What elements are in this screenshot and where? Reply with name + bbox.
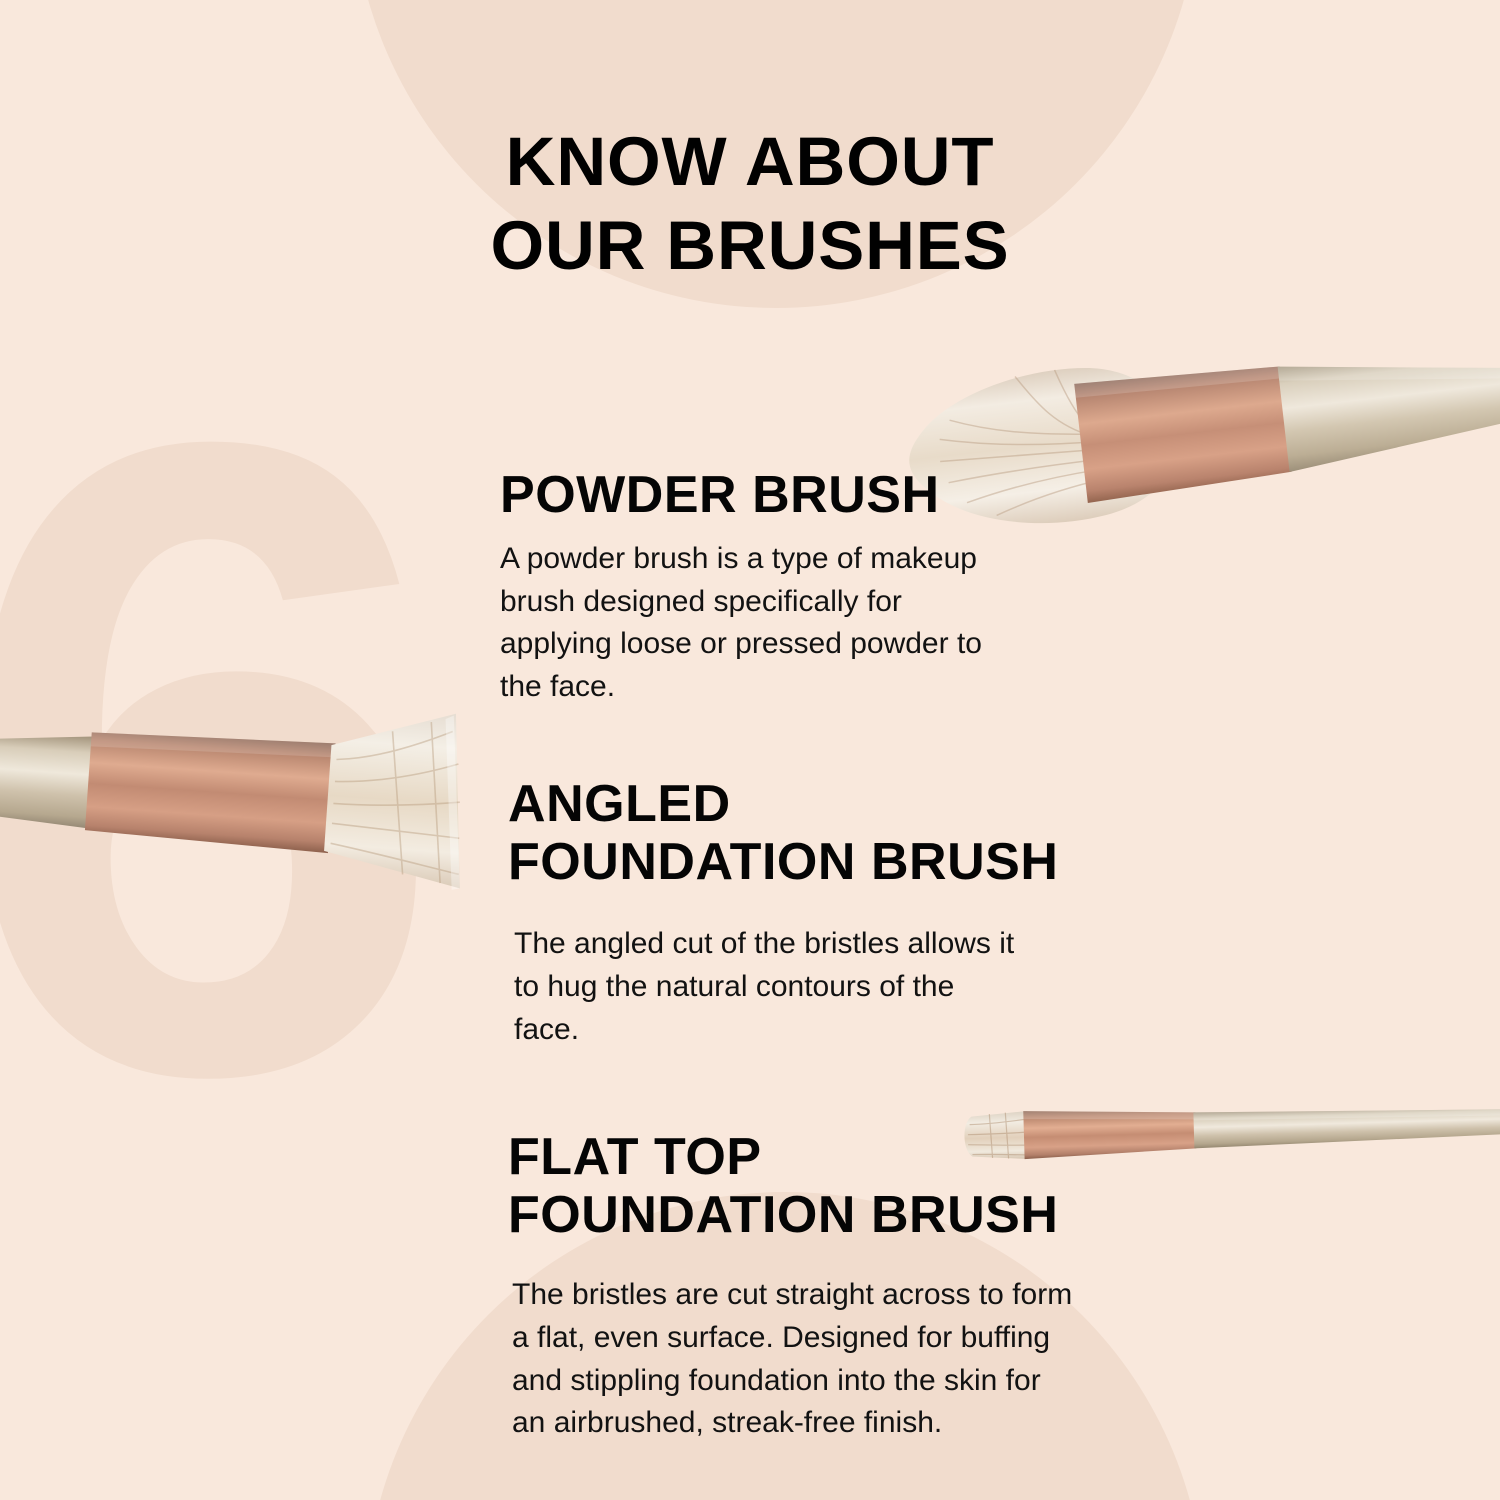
section-body-angled-foundation-brush: The angled cut of the bristles allows it… — [514, 923, 1168, 1051]
poster-canvas: 6 KNOW ABOUT OUR BRUSHES — [0, 0, 1500, 1500]
section-title-angled-foundation-brush: ANGLED FOUNDATION BRUSH — [508, 775, 1168, 891]
section-body-flat-top-foundation-brush: The bristles are cut straight across to … — [512, 1274, 1128, 1444]
section-title-powder-brush: POWDER BRUSH — [500, 466, 1020, 524]
angled-foundation-brush-image — [0, 672, 506, 928]
section-title-flat-top-foundation-brush: FLAT TOP FOUNDATION BRUSH — [508, 1128, 1128, 1244]
section-angled-foundation-brush: ANGLED FOUNDATION BRUSH The angled cut o… — [508, 775, 1168, 1051]
section-flat-top-foundation-brush: FLAT TOP FOUNDATION BRUSH The bristles a… — [508, 1128, 1128, 1445]
section-body-powder-brush: A powder brush is a type of makeup brush… — [500, 538, 1020, 708]
section-powder-brush: POWDER BRUSH A powder brush is a type of… — [500, 466, 1020, 709]
page-title: KNOW ABOUT OUR BRUSHES — [0, 120, 1500, 288]
